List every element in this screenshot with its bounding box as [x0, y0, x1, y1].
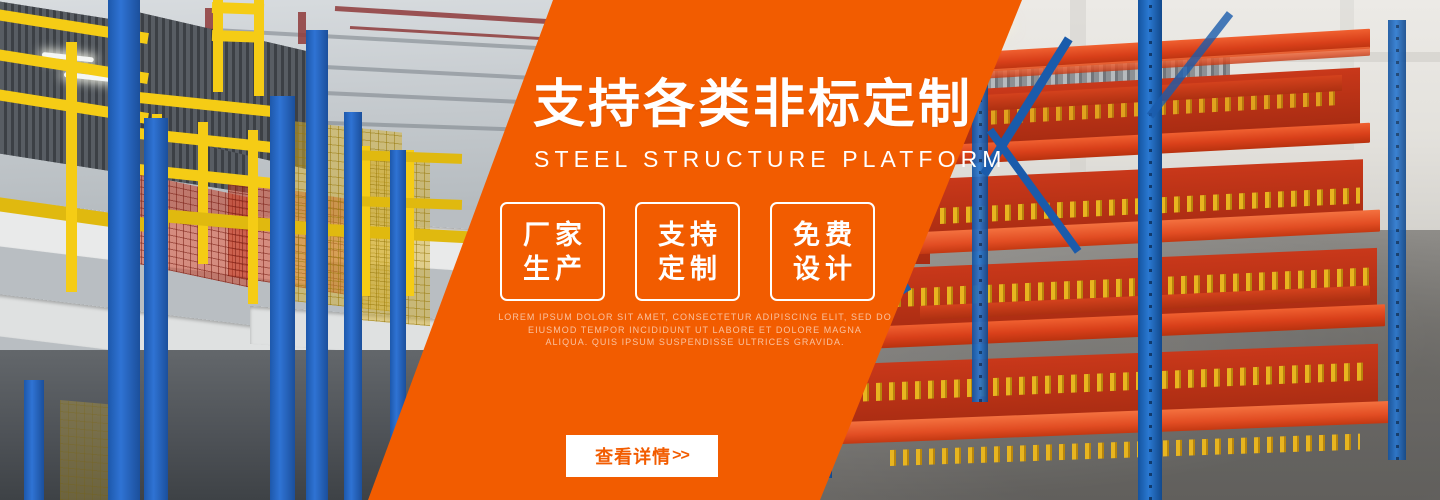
feature-tag-row: 厂家 生产 支持 定制 免费 设计	[500, 202, 875, 301]
tag-line-1: 厂家	[518, 218, 587, 252]
view-details-button[interactable]: 查看详情 >>	[566, 435, 718, 477]
feature-tag-free-design: 免费 设计	[770, 202, 875, 301]
tag-line-1: 支持	[653, 218, 722, 252]
lorem-line-2: EIUSMOD TEMPOR INCIDIDUNT UT LABORE ET D…	[455, 324, 935, 337]
tag-line-2: 定制	[653, 252, 722, 286]
view-details-label: 查看详情	[595, 443, 671, 469]
subtitle: STEEL STRUCTURE PLATFORM	[534, 145, 1007, 173]
banner-content: 支持各类非标定制 STEEL STRUCTURE PLATFORM 厂家 生产 …	[0, 0, 1440, 500]
placeholder-paragraph: LOREM IPSUM DOLOR SIT AMET, CONSECTETUR …	[455, 311, 935, 349]
promo-banner: 支持各类非标定制 STEEL STRUCTURE PLATFORM 厂家 生产 …	[0, 0, 1440, 500]
tag-line-1: 免费	[788, 218, 857, 252]
feature-tag-customization: 支持 定制	[635, 202, 740, 301]
feature-tag-manufacturer: 厂家 生产	[500, 202, 605, 301]
tag-line-2: 生产	[518, 252, 587, 286]
lorem-line-3: ALIQUA. QUIS IPSUM SUSPENDISSE ULTRICES …	[455, 336, 935, 349]
tag-line-2: 设计	[788, 252, 857, 286]
lorem-line-1: LOREM IPSUM DOLOR SIT AMET, CONSECTETUR …	[455, 311, 935, 324]
chevron-right-double-icon: >>	[672, 447, 689, 465]
page-title: 支持各类非标定制	[533, 76, 973, 134]
